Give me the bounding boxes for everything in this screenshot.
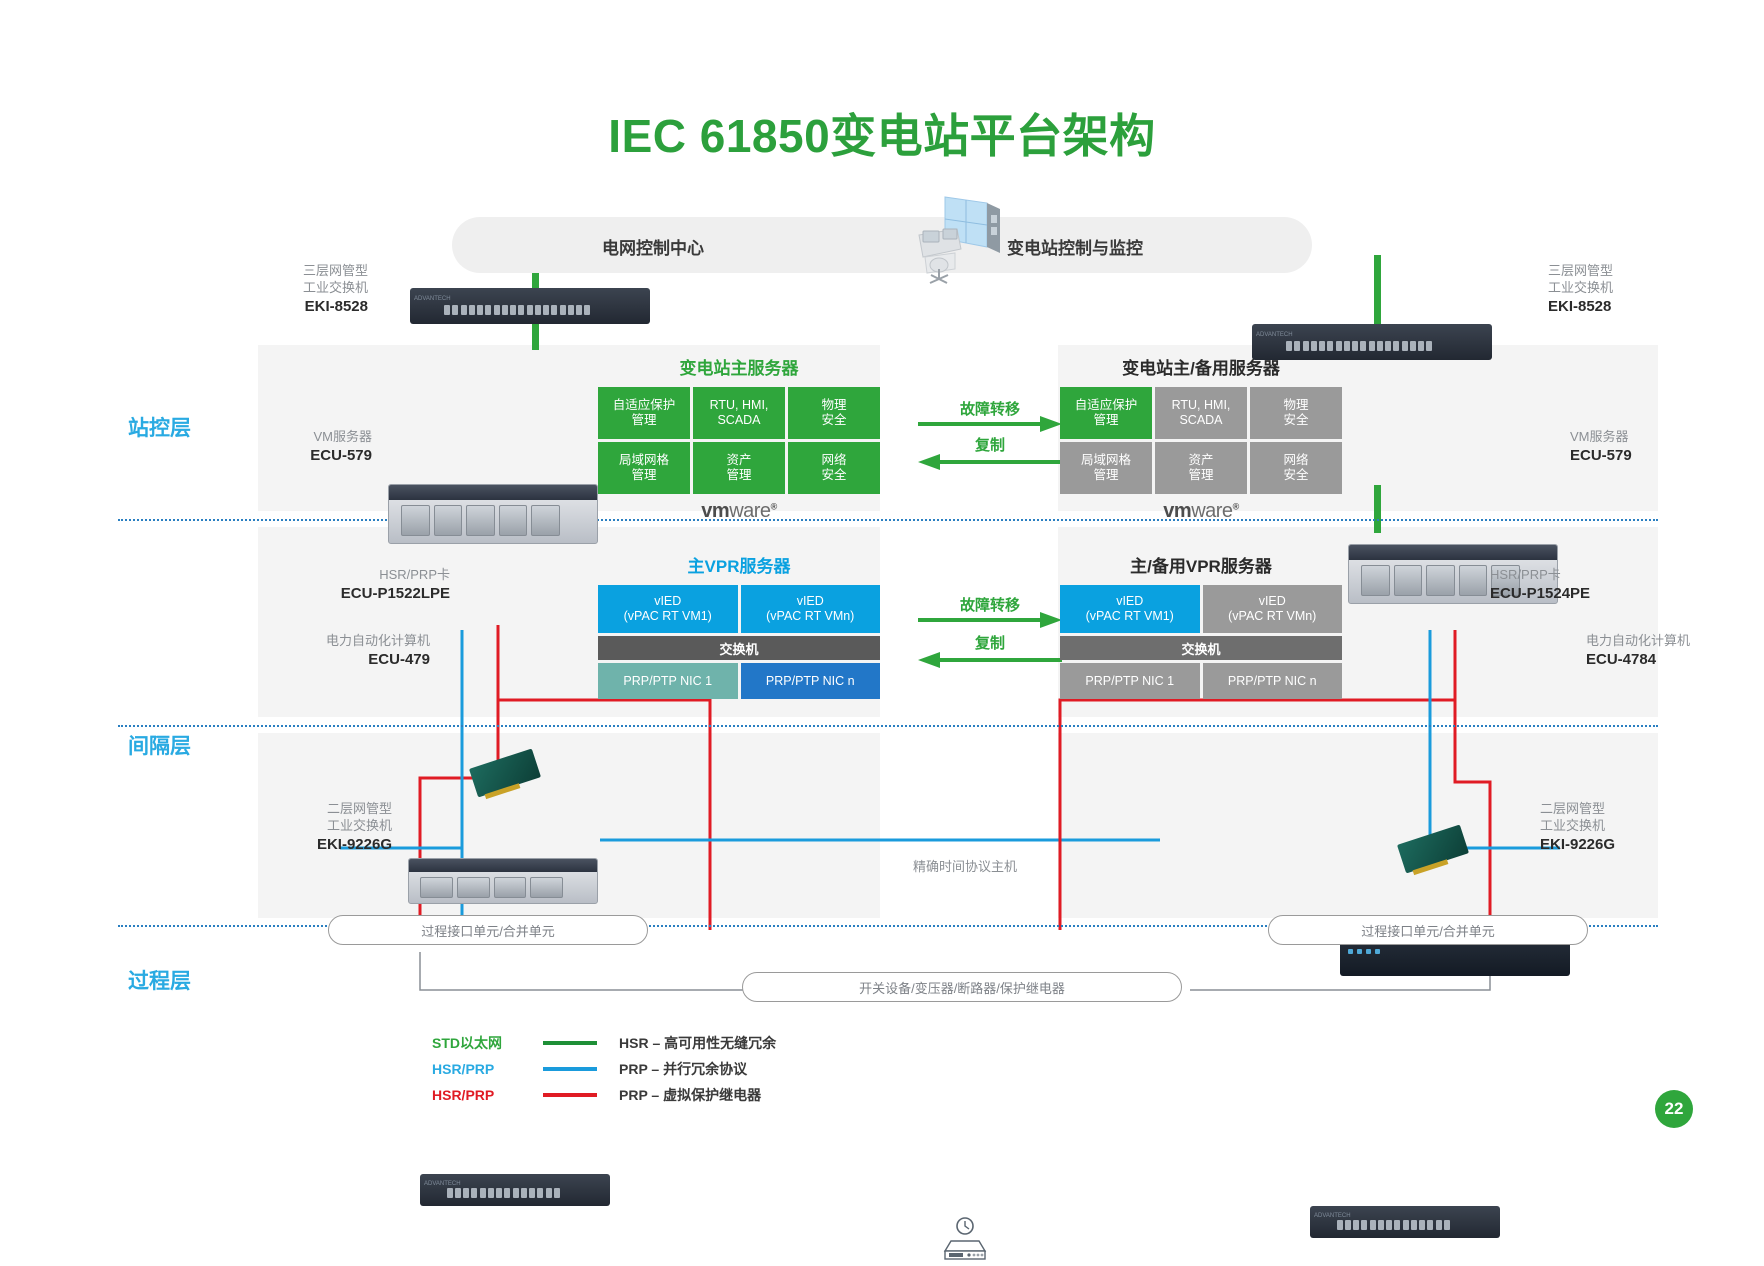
page-number-badge: 22: [1655, 1090, 1693, 1128]
vmware-logo-right: vmware®: [1060, 500, 1342, 523]
device-left-l2-switch: ADVANTECH: [420, 1174, 610, 1206]
label-right-hsr-prp-card-line1: HSR/PRP卡: [1490, 567, 1561, 582]
vied-cell[interactable]: vIED(vPAC RT VMn): [1203, 585, 1343, 633]
label-right-vm-server-line1: VM服务器: [1570, 429, 1629, 444]
primary-vpr-vm-row: vIED(vPAC RT VM1) vIED(vPAC RT VMn): [598, 585, 880, 633]
diagram-canvas: IEC 61850变电站平台架构: [0, 0, 1764, 1172]
label-left-vm-server-line1: VM服务器: [313, 429, 372, 444]
module-cell[interactable]: 物理安全: [1250, 387, 1342, 439]
label-left-l3-switch: 三层网管型 工业交换机 EKI-8528: [258, 262, 368, 315]
legend-tag: HSR/PRP: [432, 1061, 537, 1077]
module-cell[interactable]: RTU, HMI,SCADA: [693, 387, 785, 439]
panel-standby-substation-server-title: 变电站主/备用服务器: [1060, 354, 1342, 379]
primary-vpr-switch-bar[interactable]: 交换机: [598, 636, 880, 660]
band-gap-station: [880, 345, 1058, 511]
label-left-hsr-prp-card: HSR/PRP卡 ECU-P1522LPE: [300, 566, 450, 602]
label-right-vm-server-code: ECU-579: [1570, 447, 1690, 464]
band-gap-bay: [880, 527, 1058, 717]
band-gap-process: [880, 733, 1058, 918]
label-right-l2-switch: 二层网管型 工业交换机 EKI-9226G: [1540, 800, 1670, 853]
panel-standby-vpr-title: 主/备用VPR服务器: [1060, 552, 1342, 577]
nic-cell[interactable]: PRP/PTP NIC n: [741, 663, 881, 699]
legend-line-swatch: [543, 1093, 597, 1097]
bay-failover-label: 故障转移: [900, 594, 1080, 615]
layer-label-process: 过程层: [128, 965, 248, 995]
standby-vpr-switch-bar[interactable]: 交换机: [1060, 636, 1342, 660]
label-right-power-automation-computer: 电力自动化计算机 ECU-4784: [1586, 632, 1756, 668]
label-left-pac-line1: 电力自动化计算机: [326, 633, 430, 648]
label-left-l2-switch-line2: 工业交换机: [327, 818, 392, 833]
label-left-vm-server-code: ECU-579: [262, 447, 372, 464]
module-cell[interactable]: 局域网格管理: [598, 442, 690, 494]
module-cell[interactable]: 网络安全: [788, 442, 880, 494]
vied-cell[interactable]: vIED(vPAC RT VM1): [598, 585, 738, 633]
process-pill-left[interactable]: 过程接口单元/合并单元: [328, 915, 648, 945]
label-right-hsr-prp-card-code: ECU-P1524PE: [1490, 585, 1650, 602]
separator-bay-process: [118, 725, 1658, 727]
panel-primary-substation-server: 变电站主服务器 自适应保护管理 RTU, HMI,SCADA 物理安全 局域网格…: [598, 350, 880, 510]
label-right-l3-switch-code: EKI-8528: [1548, 298, 1678, 315]
panel-standby-vpr-server: 主/备用VPR服务器 vIED(vPAC RT VM1) vIED(vPAC R…: [1060, 552, 1342, 702]
module-cell[interactable]: RTU, HMI,SCADA: [1155, 387, 1247, 439]
label-right-hsr-prp-card: HSR/PRP卡 ECU-P1524PE: [1490, 566, 1650, 602]
panel-primary-vpr-server: 主VPR服务器 vIED(vPAC RT VM1) vIED(vPAC RT V…: [598, 552, 880, 702]
label-left-l3-switch-code: EKI-8528: [258, 298, 368, 315]
panel-standby-substation-server: 变电站主/备用服务器 自适应保护管理 RTU, HMI,SCADA 物理安全 局…: [1060, 350, 1342, 510]
legend-desc: PRP – 并行冗余协议: [619, 1059, 747, 1079]
station-replicate-label: 复制: [900, 434, 1080, 455]
label-left-l2-switch-code: EKI-9226G: [282, 836, 392, 853]
label-right-l3-switch: 三层网管型 工业交换机 EKI-8528: [1548, 262, 1678, 315]
device-left-power-automation-computer: [408, 858, 598, 904]
label-left-l3-switch-line2: 工业交换机: [303, 280, 368, 295]
label-left-l2-switch: 二层网管型 工业交换机 EKI-9226G: [282, 800, 392, 853]
label-left-vm-server: VM服务器 ECU-579: [262, 428, 372, 464]
label-right-pac-line1: 电力自动化计算机: [1586, 633, 1690, 648]
vied-cell[interactable]: vIED(vPAC RT VM1): [1060, 585, 1200, 633]
legend-row: STD以太网 HSR – 高可用性无缝冗余: [432, 1030, 776, 1056]
label-right-l3-switch-line1: 三层网管型: [1548, 263, 1613, 278]
device-left-l3-switch: ADVANTECH: [410, 288, 650, 324]
nic-cell[interactable]: PRP/PTP NIC 1: [1060, 663, 1200, 699]
vmware-logo-left: vmware®: [598, 500, 880, 523]
label-right-l2-switch-code: EKI-9226G: [1540, 836, 1670, 853]
legend: STD以太网 HSR – 高可用性无缝冗余 HSR/PRP PRP – 并行冗余…: [432, 1030, 776, 1108]
layer-label-bay: 间隔层: [128, 730, 248, 760]
legend-line-swatch: [543, 1067, 597, 1071]
layer-label-station: 站控层: [128, 412, 248, 442]
label-right-vm-server: VM服务器 ECU-579: [1570, 428, 1690, 464]
label-right-pac-code: ECU-4784: [1586, 651, 1756, 668]
process-pill-right[interactable]: 过程接口单元/合并单元: [1268, 915, 1588, 945]
ptp-clock-label: 精确时间协议主机: [870, 856, 1060, 875]
label-right-l2-switch-line1: 二层网管型: [1540, 801, 1605, 816]
nic-cell[interactable]: PRP/PTP NIC n: [1203, 663, 1343, 699]
label-left-l3-switch-line1: 三层网管型: [303, 263, 368, 278]
label-left-pac-code: ECU-479: [268, 651, 430, 668]
standby-server-module-grid: 自适应保护管理 RTU, HMI,SCADA 物理安全 局域网格管理 资产管理 …: [1060, 387, 1342, 494]
banner-label-grid-control-center: 电网控制中心: [602, 234, 704, 259]
legend-row: HSR/PRP PRP – 虚拟保护继电器: [432, 1082, 776, 1108]
label-left-hsr-prp-card-code: ECU-P1522LPE: [300, 585, 450, 602]
standby-vpr-vm-row: vIED(vPAC RT VM1) vIED(vPAC RT VMn): [1060, 585, 1342, 633]
device-left-vm-server: [388, 484, 598, 544]
top-banner: 电网控制中心 变电站控制与监控: [452, 217, 1312, 273]
banner-label-substation-control: 变电站控制与监控: [1007, 234, 1143, 259]
vied-cell[interactable]: vIED(vPAC RT VMn): [741, 585, 881, 633]
label-right-l3-switch-line2: 工业交换机: [1548, 280, 1613, 295]
separator-station-bay: [118, 519, 1658, 521]
module-cell[interactable]: 资产管理: [1155, 442, 1247, 494]
legend-line-swatch: [543, 1041, 597, 1045]
station-failover-label: 故障转移: [900, 398, 1080, 419]
module-cell[interactable]: 自适应保护管理: [598, 387, 690, 439]
legend-desc: HSR – 高可用性无缝冗余: [619, 1033, 776, 1053]
page-title: IEC 61850变电站平台架构: [0, 100, 1764, 166]
module-cell[interactable]: 网络安全: [1250, 442, 1342, 494]
primary-server-module-grid: 自适应保护管理 RTU, HMI,SCADA 物理安全 局域网格管理 资产管理 …: [598, 387, 880, 494]
label-right-l2-switch-line2: 工业交换机: [1540, 818, 1605, 833]
module-cell[interactable]: 局域网格管理: [1060, 442, 1152, 494]
module-cell[interactable]: 自适应保护管理: [1060, 387, 1152, 439]
label-left-hsr-prp-card-line1: HSR/PRP卡: [379, 567, 450, 582]
label-left-power-automation-computer: 电力自动化计算机 ECU-479: [268, 632, 430, 668]
bay-replicate-label: 复制: [900, 632, 1080, 653]
legend-row: HSR/PRP PRP – 并行冗余协议: [432, 1056, 776, 1082]
process-pill-bottom[interactable]: 开关设备/变压器/断路器/保护继电器: [742, 972, 1182, 1002]
nic-cell[interactable]: PRP/PTP NIC 1: [598, 663, 738, 699]
legend-desc: PRP – 虚拟保护继电器: [619, 1085, 761, 1105]
panel-primary-vpr-title: 主VPR服务器: [598, 552, 880, 577]
panel-primary-substation-server-title: 变电站主服务器: [598, 354, 880, 379]
device-right-l2-switch: ADVANTECH: [1310, 1206, 1500, 1238]
legend-tag: STD以太网: [432, 1033, 537, 1053]
ptp-clock-icon: [935, 1217, 995, 1261]
module-cell[interactable]: 物理安全: [788, 387, 880, 439]
standby-vpr-nic-row: PRP/PTP NIC 1 PRP/PTP NIC n: [1060, 663, 1342, 699]
control-room-illustration: [905, 195, 1010, 285]
legend-tag: HSR/PRP: [432, 1087, 537, 1103]
label-left-l2-switch-line1: 二层网管型: [327, 801, 392, 816]
module-cell[interactable]: 资产管理: [693, 442, 785, 494]
primary-vpr-nic-row: PRP/PTP NIC 1 PRP/PTP NIC n: [598, 663, 880, 699]
